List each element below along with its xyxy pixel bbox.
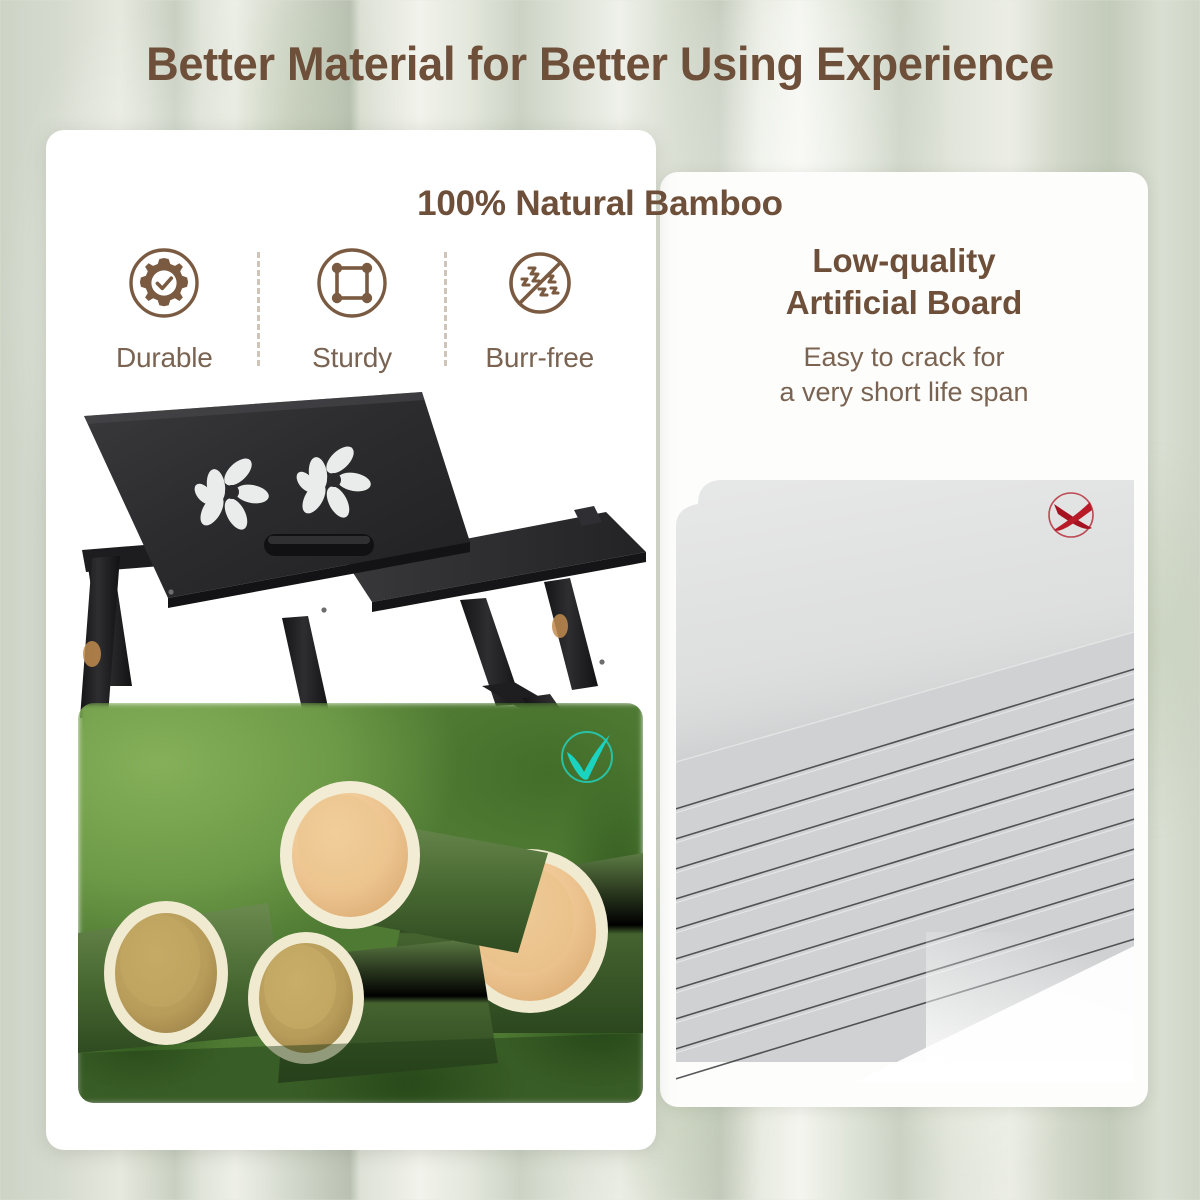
right-title-line-1: Low-quality	[812, 242, 995, 279]
no-burr-icon	[503, 246, 577, 320]
gear-check-icon	[127, 246, 201, 320]
check-badge-icon	[552, 722, 622, 792]
feature-burr-free: Burr-free	[447, 246, 632, 374]
feature-sturdy: Sturdy	[260, 246, 445, 374]
feature-list: Durable Sturdy	[72, 246, 632, 396]
feature-label: Durable	[116, 342, 213, 374]
right-subtitle-line-1: Easy to crack for	[803, 342, 1004, 372]
right-subtitle-line-2: a very short life span	[779, 377, 1028, 407]
right-panel-subtitle: Easy to crack for a very short life span	[660, 340, 1148, 410]
desk-screw	[599, 659, 604, 664]
right-title-line-2: Artificial Board	[786, 284, 1023, 321]
feature-label: Sturdy	[312, 342, 392, 374]
bamboo-culm-center-upper	[280, 781, 548, 953]
marketing-infographic: Better Material for Better Using Experie…	[0, 0, 1200, 1200]
desk-carry-handle	[264, 534, 374, 556]
left-panel-title: 100% Natural Bamboo	[0, 184, 1200, 224]
square-frame-icon	[315, 246, 389, 320]
desk-screw	[168, 589, 173, 594]
feature-label: Burr-free	[485, 342, 594, 374]
particle-board-stack-photo	[676, 462, 1134, 1082]
feature-durable: Durable	[72, 246, 257, 374]
right-panel-title: Low-quality Artificial Board	[660, 240, 1148, 323]
desk-screw	[321, 607, 326, 612]
cross-badge-icon	[1040, 482, 1104, 546]
page-title: Better Material for Better Using Experie…	[24, 36, 1176, 91]
